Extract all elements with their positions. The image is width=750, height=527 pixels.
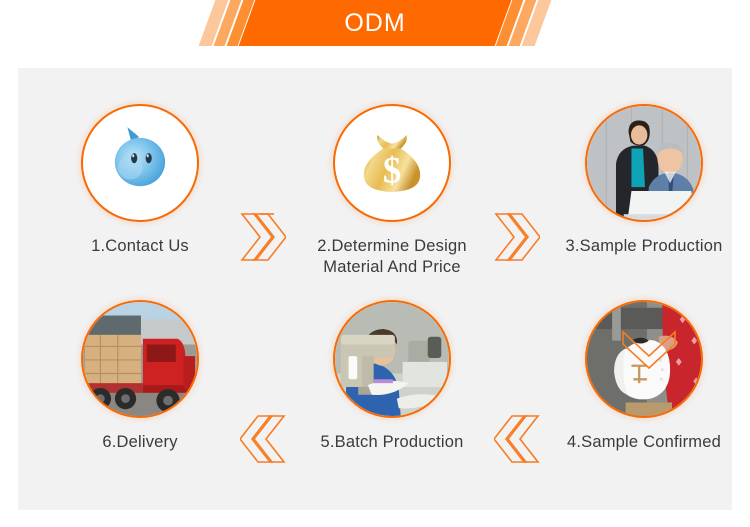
step-5-circle <box>333 300 451 418</box>
step-1-contact-us: 1.Contact Us <box>30 104 250 257</box>
step-6-delivery: 6.Delivery <box>30 300 250 453</box>
double-chevron-right-icon <box>240 210 286 264</box>
arrow-step3-to-step4 <box>620 330 678 379</box>
money-bag-icon: $ <box>335 106 449 220</box>
step-5-label: 5.Batch Production <box>282 432 502 453</box>
process-flow-panel: 1.Contact Us $ 2.Determine Desi <box>18 68 732 510</box>
step-1-label: 1.Contact Us <box>30 236 250 257</box>
arrow-step2-to-step3 <box>494 210 540 269</box>
photo-red-delivery-truck <box>83 302 197 416</box>
step-3-circle <box>585 104 703 222</box>
step-6-circle <box>81 300 199 418</box>
arrow-step1-to-step2 <box>240 210 286 269</box>
single-chevron-down-icon <box>620 330 678 374</box>
step-2-circle: $ <box>333 104 451 222</box>
double-chevron-left-icon <box>494 412 540 466</box>
step-5-batch-production: 5.Batch Production <box>282 300 502 453</box>
step-6-label: 6.Delivery <box>30 432 250 453</box>
step-3-sample-production: 3.Sample Production <box>534 104 750 257</box>
tradmanager-blue-mascot-icon <box>83 106 197 220</box>
step-3-label: 3.Sample Production <box>534 236 750 257</box>
photo-two-people-at-laptop <box>587 106 701 220</box>
banner-title: ODM <box>0 0 750 46</box>
arrow-step5-to-step6 <box>240 412 286 471</box>
step-2-determine-design: $ 2.Determine Design Material And Price <box>282 104 502 278</box>
arrow-step4-to-step5 <box>494 412 540 471</box>
step-4-label: 4.Sample Confirmed <box>534 432 750 453</box>
photo-sewing-machine-worker <box>335 302 449 416</box>
step-1-circle <box>81 104 199 222</box>
double-chevron-left-icon <box>240 412 286 466</box>
step-2-label: 2.Determine Design Material And Price <box>282 236 502 278</box>
svg-text:$: $ <box>383 149 401 190</box>
double-chevron-right-icon <box>494 210 540 264</box>
header-banner: ODM <box>0 0 750 50</box>
